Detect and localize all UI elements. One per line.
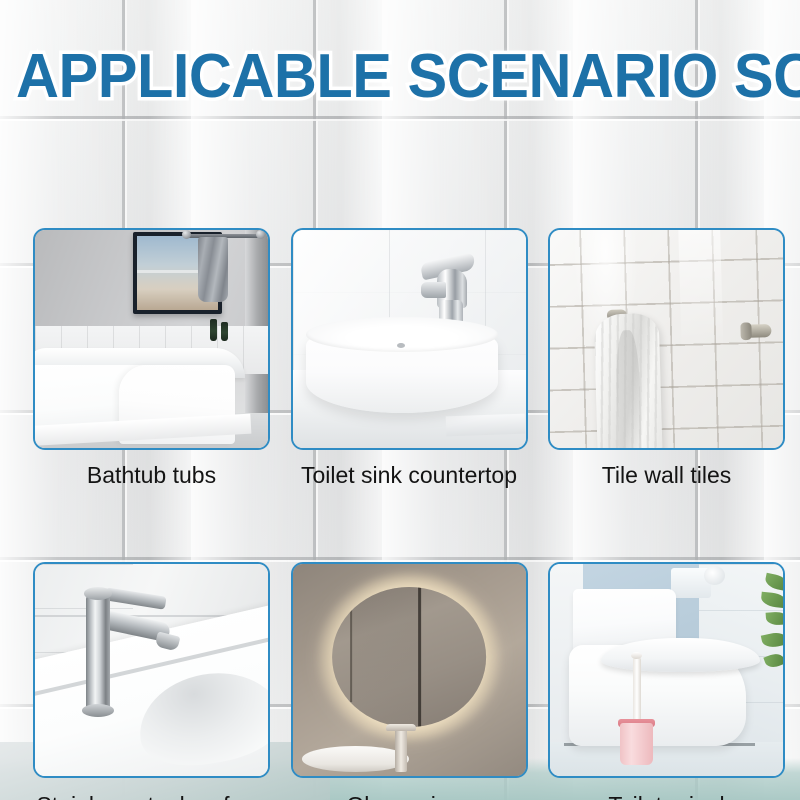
wall-tiles-photo [548, 228, 785, 450]
faucet-base [82, 704, 115, 717]
toilet-brush-holder [620, 723, 653, 765]
scenario-card-toilet-urinal[interactable]: Toilet urinal [548, 562, 785, 800]
hanging-towel-icon [198, 237, 228, 302]
faucet-spout [386, 724, 416, 731]
scenario-caption: Stainless steel surface [33, 790, 270, 800]
scenario-caption: Bathtub tubs [33, 460, 270, 490]
scenario-grid: Bathtub tubs [33, 228, 785, 800]
counter-shelf [446, 414, 526, 436]
bottle-icon [221, 322, 228, 341]
scenario-caption: Toilet sink countertop [291, 460, 528, 490]
sink-countertop-photo [293, 230, 526, 448]
toilet-urinal-photo [550, 564, 783, 776]
bottle-icon [210, 319, 217, 341]
faucet-cap [84, 587, 112, 600]
scenario-image-frame [33, 562, 270, 778]
scenario-row-top: Bathtub tubs [33, 228, 785, 490]
scenario-caption: Toilet urinal [548, 790, 785, 800]
scenario-caption: Tile wall tiles [548, 460, 785, 490]
page-title: APPLICABLE SCENARIO SCOPE [16, 44, 784, 110]
scenario-image-frame [291, 562, 528, 778]
toilet-paper-roll-icon [704, 566, 725, 585]
tile-gloss-highlight [678, 228, 724, 401]
leaf-icon [763, 573, 783, 592]
glass-mirror-photo [293, 564, 526, 776]
scenario-card-stainless-steel[interactable]: Stainless steel surface [33, 562, 270, 800]
scenario-image-frame [291, 228, 528, 450]
bathroom-floor [550, 742, 783, 776]
leaf-icon [760, 592, 783, 609]
scenario-card-sink-countertop[interactable]: Toilet sink countertop [291, 228, 528, 490]
stainless-steel-photo [35, 564, 268, 776]
bathtub-photo [35, 230, 268, 448]
round-mirror [332, 587, 486, 727]
faucet-stem [86, 594, 109, 713]
towel-hook-icon [747, 324, 772, 338]
leaf-icon [766, 611, 783, 626]
rail-knob-icon [182, 230, 191, 239]
mirror-reflection-edge [351, 593, 353, 702]
infographic-poster: APPLICABLE SCENARIO SCOPE [0, 0, 800, 800]
toilet-lid [601, 638, 759, 672]
scenario-card-wall-tiles[interactable]: Tile wall tiles [548, 228, 785, 490]
faucet-spout [421, 282, 447, 297]
leaf-icon [760, 631, 783, 650]
scenario-row-bottom: Stainless steel surface [33, 562, 785, 800]
scenario-caption: Glass mirror [291, 790, 528, 800]
mirror-reflection-panel [351, 587, 420, 727]
scenario-card-glass-mirror[interactable]: Glass mirror [291, 562, 528, 800]
leaf-icon [764, 651, 783, 670]
wall-column [245, 230, 268, 417]
basin-bowl [302, 746, 409, 771]
scenario-image-frame [548, 562, 785, 778]
faucet-stem [395, 725, 407, 772]
scenario-image-frame [548, 228, 785, 450]
scenario-image-frame [33, 228, 270, 450]
scenario-card-bathtub[interactable]: Bathtub tubs [33, 228, 270, 490]
mirror-reflection-edge [418, 587, 421, 727]
toilet-brush-handle [633, 657, 641, 721]
plant-icon [750, 572, 783, 703]
